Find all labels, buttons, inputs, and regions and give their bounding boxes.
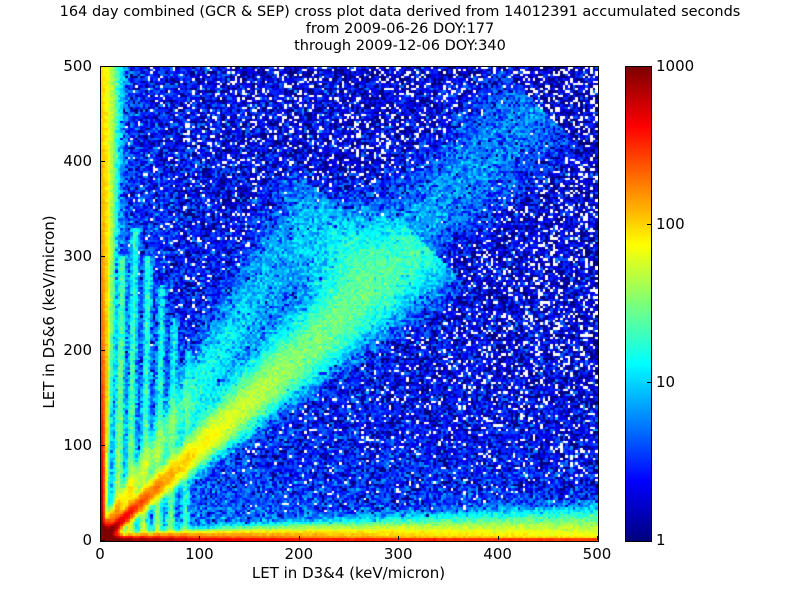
y-tick-mark bbox=[101, 66, 105, 67]
x-tick-mark bbox=[398, 536, 399, 540]
colorbar-tick-label: 1000 bbox=[656, 57, 694, 75]
y-tick-label: 500 bbox=[38, 57, 92, 75]
x-tick-label: 100 bbox=[185, 545, 214, 563]
x-tick-mark bbox=[299, 536, 300, 540]
x-tick-label: 0 bbox=[95, 545, 105, 563]
colorbar-tick-label: 1 bbox=[656, 531, 666, 549]
x-axis-label: LET in D3&4 (keV/micron) bbox=[100, 564, 597, 582]
colorbar-gradient bbox=[626, 67, 651, 541]
x-tick-mark bbox=[597, 536, 598, 540]
y-tick-mark bbox=[101, 540, 105, 541]
title-line-1: 164 day combined (GCR & SEP) cross plot … bbox=[0, 4, 800, 21]
x-tick-label: 400 bbox=[483, 545, 512, 563]
colorbar-tick-label: 10 bbox=[656, 373, 675, 391]
x-tick-label: 500 bbox=[583, 545, 612, 563]
colorbar-tick-mark bbox=[647, 224, 651, 225]
colorbar-tick-mark bbox=[647, 382, 651, 383]
y-axis-label: LET in D5&6 (keV/micron) bbox=[40, 75, 58, 549]
colorbar-axes bbox=[625, 66, 652, 542]
figure-title: 164 day combined (GCR & SEP) cross plot … bbox=[0, 4, 800, 55]
x-tick-mark bbox=[498, 536, 499, 540]
y-tick-mark bbox=[101, 256, 105, 257]
x-tick-mark bbox=[199, 536, 200, 540]
x-tick-label: 300 bbox=[384, 545, 413, 563]
colorbar-tick-label: 100 bbox=[656, 215, 685, 233]
plot-axes bbox=[100, 66, 599, 542]
x-tick-label: 200 bbox=[284, 545, 313, 563]
y-tick-mark bbox=[101, 161, 105, 162]
density-heatmap bbox=[101, 67, 598, 541]
y-tick-mark bbox=[101, 445, 105, 446]
title-line-2: from 2009-06-26 DOY:177 bbox=[0, 21, 800, 38]
figure-canvas: 164 day combined (GCR & SEP) cross plot … bbox=[0, 0, 800, 600]
title-line-3: through 2009-12-06 DOY:340 bbox=[0, 38, 800, 55]
y-tick-mark bbox=[101, 350, 105, 351]
